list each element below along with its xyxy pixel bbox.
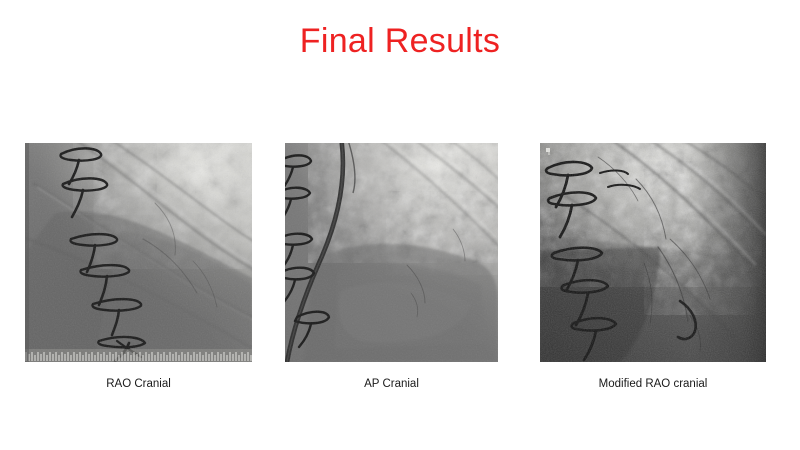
panel-rao-cranial[interactable]: RAO Cranial [25, 143, 252, 392]
page-title: Final Results [0, 22, 800, 61]
image-panel-group: RAO Cranial [0, 143, 800, 393]
panel-modified-rao-cranial[interactable]: Modified RAO cranial [540, 143, 766, 392]
panel-ap-cranial[interactable]: AP Cranial [285, 143, 498, 392]
panel-caption-modified-rao-cranial: Modified RAO cranial [540, 378, 766, 392]
slide: Final Results [0, 0, 800, 450]
panel-caption-rao-cranial: RAO Cranial [25, 378, 252, 392]
angiogram-image-rao-cranial [25, 143, 252, 362]
panel-caption-ap-cranial: AP Cranial [285, 378, 498, 392]
angiogram-image-modified-rao-cranial [540, 143, 766, 362]
angiogram-image-ap-cranial [285, 143, 498, 362]
